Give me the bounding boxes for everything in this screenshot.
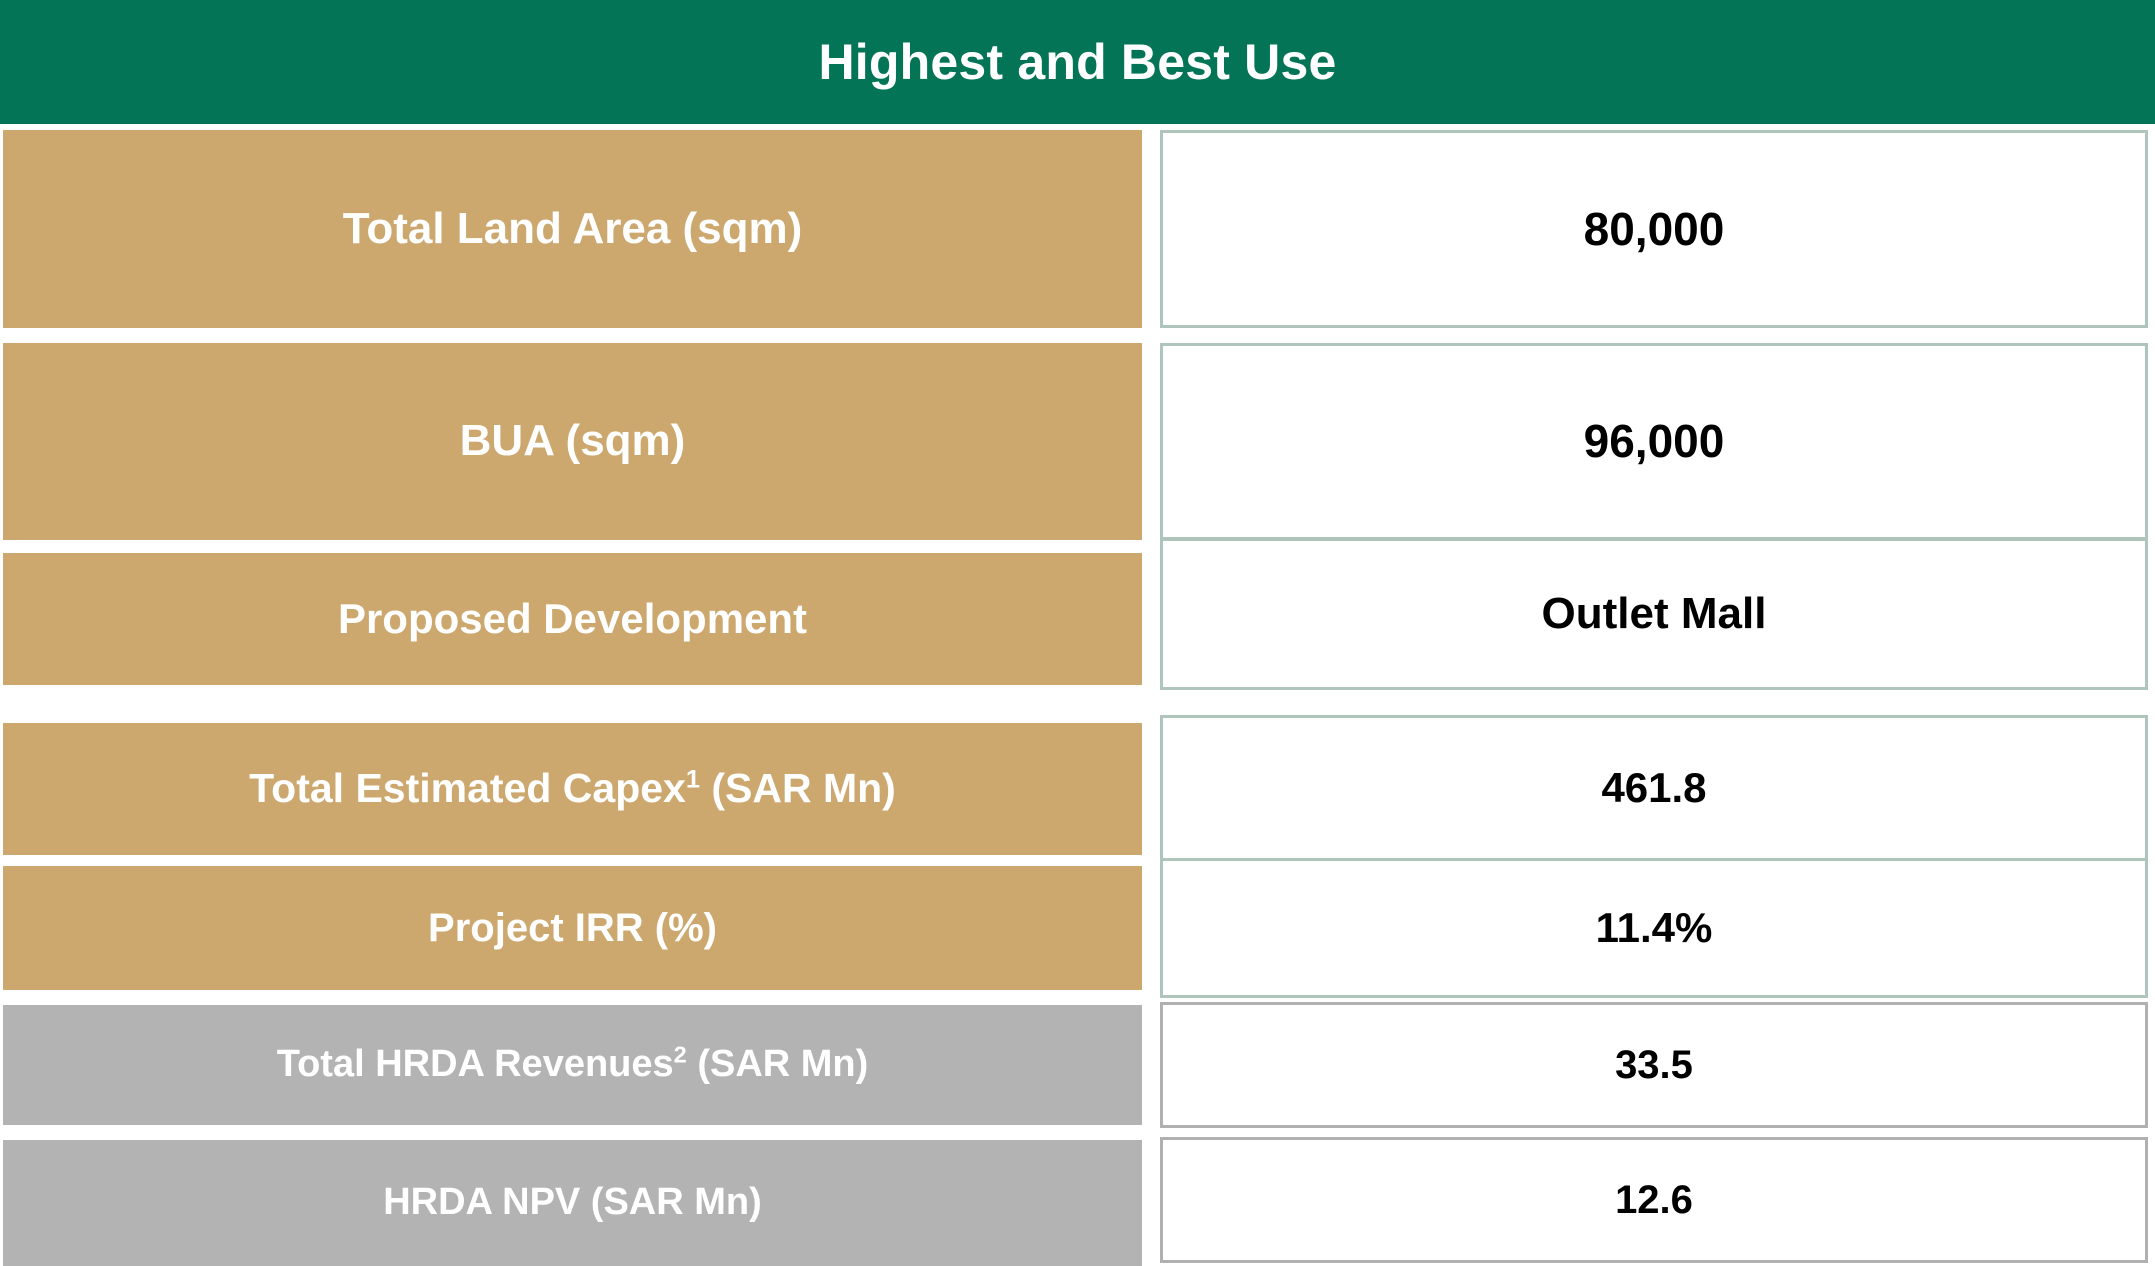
page-title: Highest and Best Use	[818, 37, 1336, 87]
table-row: Proposed Development Outlet Mall	[0, 553, 2155, 685]
table-row: Total Estimated Capex1 (SAR Mn) 461.8	[0, 723, 2155, 855]
row-value-bua: 96,000	[1160, 343, 2148, 540]
value-text: 461.8	[1601, 766, 1706, 810]
table-row: Total Land Area (sqm) 80,000	[0, 130, 2155, 328]
label-footnote-marker: 2	[674, 1041, 687, 1067]
label-text-suffix: (SAR Mn)	[687, 1043, 869, 1085]
row-value-total-land-area: 80,000	[1160, 130, 2148, 328]
row-label-project-irr: Project IRR (%)	[3, 866, 1142, 990]
label-footnote-marker: 1	[686, 766, 700, 794]
row-value-project-irr: 11.4%	[1160, 858, 2148, 998]
table-row: Project IRR (%) 11.4%	[0, 866, 2155, 990]
table-row: Total HRDA Revenues2 (SAR Mn) 33.5	[0, 1005, 2155, 1125]
row-label-total-estimated-capex: Total Estimated Capex1 (SAR Mn)	[3, 723, 1142, 855]
label-text: BUA (sqm)	[460, 418, 686, 464]
value-text: 96,000	[1584, 417, 1725, 465]
value-text: 11.4%	[1596, 906, 1713, 950]
label-text: Proposed Development	[338, 597, 807, 641]
value-text: 80,000	[1584, 205, 1725, 253]
row-label-proposed-development: Proposed Development	[3, 553, 1142, 685]
label-text: HRDA NPV (SAR Mn)	[383, 1183, 762, 1223]
row-label-bua: BUA (sqm)	[3, 343, 1142, 540]
slide-title-banner: Highest and Best Use	[0, 0, 2155, 124]
label-text: Total Estimated Capex1 (SAR Mn)	[249, 767, 896, 810]
row-value-proposed-development: Outlet Mall	[1160, 538, 2148, 690]
value-text: 12.6	[1615, 1179, 1693, 1221]
label-text-suffix: (SAR Mn)	[700, 765, 896, 811]
table-row: BUA (sqm) 96,000	[0, 343, 2155, 540]
label-text-main: Total Estimated Capex	[249, 765, 686, 811]
value-text: 33.5	[1615, 1044, 1693, 1086]
row-value-total-hrda-revenues: 33.5	[1160, 1002, 2148, 1128]
label-text: Project IRR (%)	[428, 907, 717, 949]
table-row: HRDA NPV (SAR Mn) 12.6	[0, 1140, 2155, 1266]
row-value-total-estimated-capex: 461.8	[1160, 715, 2148, 861]
highest-and-best-use-slide: Highest and Best Use Total Land Area (sq…	[0, 0, 2155, 1266]
row-value-hrda-npv: 12.6	[1160, 1137, 2148, 1263]
row-label-hrda-npv: HRDA NPV (SAR Mn)	[3, 1140, 1142, 1266]
row-label-total-hrda-revenues: Total HRDA Revenues2 (SAR Mn)	[3, 1005, 1142, 1125]
label-text: Total HRDA Revenues2 (SAR Mn)	[277, 1045, 869, 1085]
label-text: Total Land Area (sqm)	[343, 206, 803, 252]
label-text-main: Total HRDA Revenues	[277, 1043, 674, 1085]
value-text: Outlet Mall	[1542, 591, 1767, 637]
row-label-total-land-area: Total Land Area (sqm)	[3, 130, 1142, 328]
